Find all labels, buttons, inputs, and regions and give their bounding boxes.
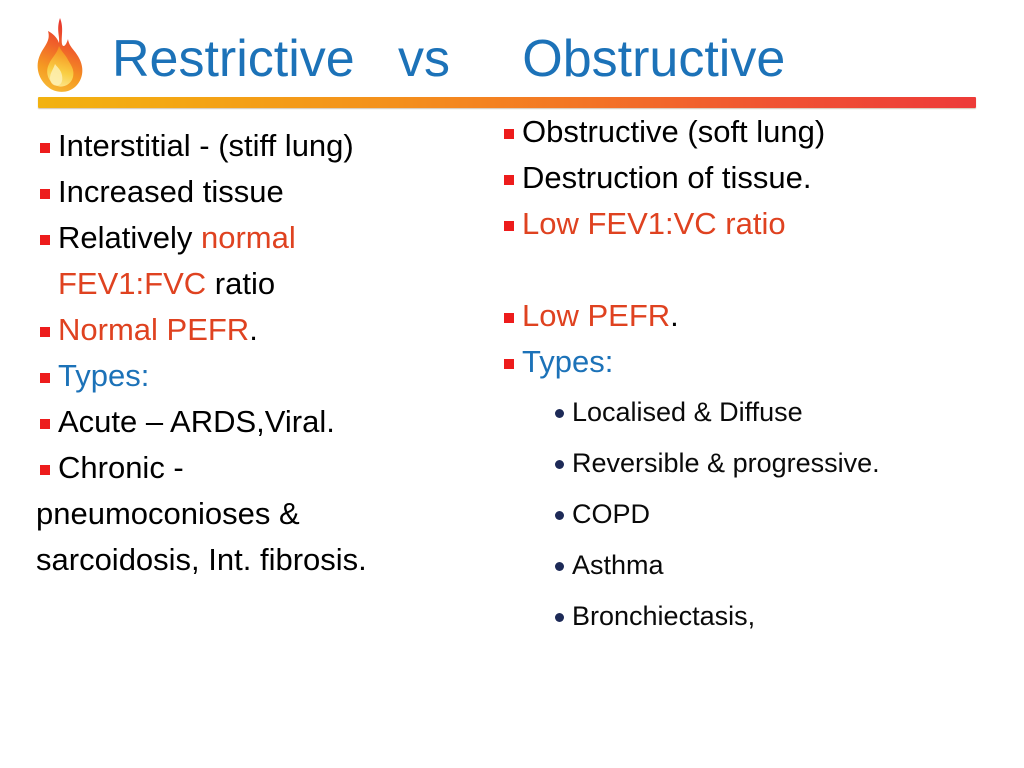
square-bullet-icon xyxy=(40,373,50,383)
square-bullet-icon xyxy=(40,327,50,337)
text-segment: FEV1:FVC xyxy=(58,266,206,301)
round-bullet-icon xyxy=(555,562,564,571)
sub-bullet-item[interactable]: Bronchiectasis, xyxy=(500,592,1000,640)
sub-bullet-item[interactable]: Localised & Diffuse xyxy=(500,388,1000,436)
flame-icon xyxy=(26,16,90,98)
sub-bullet-label: Bronchiectasis, xyxy=(572,601,755,631)
sub-bullet-item[interactable]: Asthma xyxy=(500,541,1000,589)
sub-bullet-item[interactable]: COPD xyxy=(500,490,1000,538)
page-title: Restrictive vs Obstructive xyxy=(112,29,785,89)
bullet-item[interactable]: Interstitial - (stiff lung) xyxy=(36,126,488,166)
bullet-item[interactable]: Chronic - xyxy=(36,448,488,488)
sub-bullet-item[interactable]: Reversible & progressive. xyxy=(500,439,1000,487)
text-segment: Low FEV1:VC ratio xyxy=(522,206,786,241)
square-bullet-icon xyxy=(40,465,50,475)
sub-bullet-label: Reversible & progressive. xyxy=(572,448,880,478)
text-segment: Normal PEFR xyxy=(58,312,249,347)
blank-line xyxy=(500,250,1000,296)
sub-bullet-label: Asthma xyxy=(572,550,664,580)
text-segment: pneumoconioses & xyxy=(36,496,300,531)
text-segment: . xyxy=(249,312,258,347)
text-segment: Types: xyxy=(58,358,149,393)
sub-bullet-label: COPD xyxy=(572,499,650,529)
text-segment: Acute – ARDS,Viral. xyxy=(58,404,335,439)
text-segment: Types: xyxy=(522,344,613,379)
square-bullet-icon xyxy=(40,189,50,199)
text-segment: Obstructive (soft lung) xyxy=(522,114,825,149)
text-segment: ratio xyxy=(206,266,275,301)
restrictive-column: Interstitial - (stiff lung)Increased tis… xyxy=(36,112,488,586)
text-segment: Relatively xyxy=(58,220,201,255)
text-segment: Destruction of tissue. xyxy=(522,160,811,195)
bullet-item[interactable]: Obstructive (soft lung) xyxy=(500,112,1000,152)
bullet-item[interactable]: Low PEFR. xyxy=(500,296,1000,336)
bullet-item[interactable]: Destruction of tissue. xyxy=(500,158,1000,198)
round-bullet-icon xyxy=(555,511,564,520)
bullet-wrap-line: sarcoidosis, Int. fibrosis. xyxy=(36,540,488,580)
round-bullet-icon xyxy=(555,613,564,622)
round-bullet-icon xyxy=(555,460,564,469)
square-bullet-icon xyxy=(504,175,514,185)
square-bullet-icon xyxy=(504,313,514,323)
slide-title-bar: Restrictive vs Obstructive xyxy=(0,0,1024,112)
bullet-item[interactable]: Normal PEFR. xyxy=(36,310,488,350)
obstructive-column: Obstructive (soft lung)Destruction of ti… xyxy=(500,112,1000,643)
text-segment: sarcoidosis, Int. fibrosis. xyxy=(36,542,367,577)
text-segment: Low PEFR xyxy=(522,298,670,333)
text-segment: Interstitial - (stiff lung) xyxy=(58,128,354,163)
text-segment: normal xyxy=(201,220,296,255)
text-segment: Increased tissue xyxy=(58,174,284,209)
bullet-wrap-line: pneumoconioses & xyxy=(36,494,488,534)
bullet-item[interactable]: Types: xyxy=(500,342,1000,382)
sub-bullet-label: Localised & Diffuse xyxy=(572,397,803,427)
bullet-item[interactable]: Low FEV1:VC ratio xyxy=(500,204,1000,244)
text-segment: . xyxy=(670,298,679,333)
square-bullet-icon xyxy=(40,419,50,429)
square-bullet-icon xyxy=(40,235,50,245)
round-bullet-icon xyxy=(555,409,564,418)
bullet-item[interactable]: Acute – ARDS,Viral. xyxy=(36,402,488,442)
square-bullet-icon xyxy=(504,129,514,139)
text-segment: Chronic - xyxy=(58,450,184,485)
square-bullet-icon xyxy=(504,359,514,369)
bullet-wrap-line: FEV1:FVC ratio xyxy=(36,264,488,304)
bullet-item[interactable]: Types: xyxy=(36,356,488,396)
square-bullet-icon xyxy=(40,143,50,153)
title-gradient-rule xyxy=(38,97,976,108)
slide-content: Interstitial - (stiff lung)Increased tis… xyxy=(0,112,1024,768)
bullet-item[interactable]: Relatively normal xyxy=(36,218,488,258)
bullet-item[interactable]: Increased tissue xyxy=(36,172,488,212)
square-bullet-icon xyxy=(504,221,514,231)
